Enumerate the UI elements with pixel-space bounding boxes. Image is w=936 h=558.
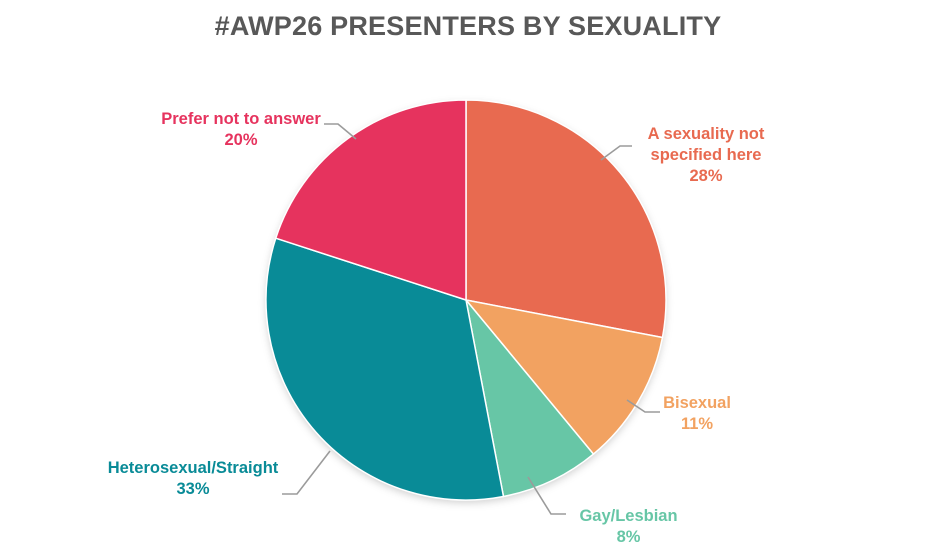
slice-label-text: A sexuality not specified here bbox=[636, 124, 776, 166]
slice-label-value: 33% bbox=[92, 479, 294, 500]
slice-label-heterosexual-straight: Heterosexual/Straight 33% bbox=[92, 458, 294, 500]
slice-label-value: 8% bbox=[567, 527, 690, 548]
pie-chart-figure: #AWP26 PRESENTERS BY SEXUALITY A sexuali… bbox=[0, 0, 936, 558]
slice-label-a-sexuality-not-specified-here: A sexuality not specified here 28% bbox=[636, 124, 776, 187]
pie-slices-group bbox=[266, 100, 666, 500]
slice-label-bisexual: Bisexual 11% bbox=[655, 393, 739, 435]
slice-label-prefer-not-to-answer: Prefer not to answer 20% bbox=[147, 109, 335, 151]
slice-label-gay-lesbian: Gay/Lesbian 8% bbox=[567, 506, 690, 548]
slice-label-text: Prefer not to answer bbox=[147, 109, 335, 130]
slice-label-value: 28% bbox=[636, 166, 776, 187]
slice-label-text: Bisexual bbox=[655, 393, 739, 414]
slice-label-value: 11% bbox=[655, 414, 739, 435]
slice-label-text: Heterosexual/Straight bbox=[92, 458, 294, 479]
slice-label-value: 20% bbox=[147, 130, 335, 151]
slice-label-text: Gay/Lesbian bbox=[567, 506, 690, 527]
